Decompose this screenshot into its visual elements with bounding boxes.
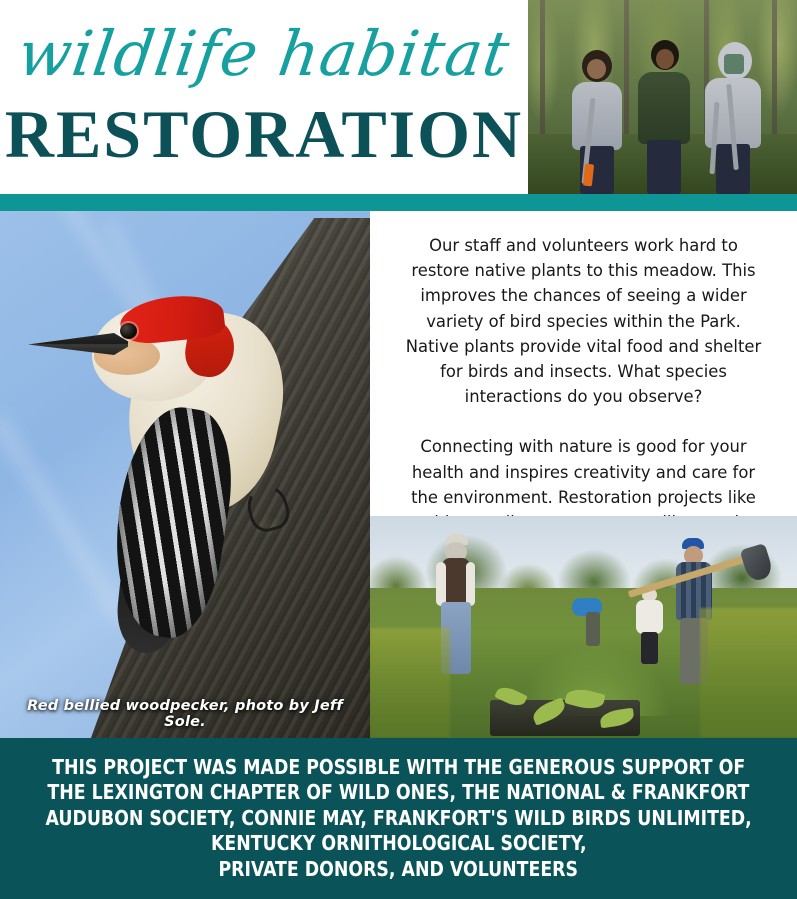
title-block: wildlife habitat RESTORATION — [0, 0, 528, 194]
footer-line: AUDUBON SOCIETY, CONNIE MAY, FRANKFORT'S… — [45, 806, 751, 832]
footer-line: THE LEXINGTON CHAPTER OF WILD ONES, THE … — [48, 780, 750, 806]
meadow-figure-sleeve — [466, 562, 475, 606]
volunteer-mask-icon — [724, 54, 744, 74]
tree-trunk-icon — [540, 0, 545, 150]
photo-caption: Red bellied woodpecker, photo by Jeff So… — [0, 698, 370, 730]
sponsor-footer: THIS PROJECT WAS MADE POSSIBLE WITH THE … — [0, 738, 797, 899]
woodpecker-eye — [120, 323, 137, 339]
volunteer-legs — [647, 140, 681, 194]
teal-divider-bar — [0, 194, 797, 211]
volunteer-figure — [700, 40, 768, 194]
meadow-figure-sleeve — [436, 562, 446, 606]
wildlife-habitat-restoration-poster: wildlife habitat RESTORATION — [0, 0, 797, 899]
meadow-tall-grass — [700, 608, 797, 738]
volunteer-face-icon — [656, 49, 674, 69]
woodpecker-photo: Red bellied woodpecker, photo by Jeff So… — [0, 211, 370, 738]
volunteer-face-icon — [587, 59, 606, 79]
meadow-figure-shirt — [636, 600, 663, 634]
meadow-figure-legs — [641, 632, 658, 664]
woodpecker-bird — [34, 289, 284, 619]
volunteer-fleece — [638, 72, 690, 144]
meadow-figure-bending — [570, 598, 608, 646]
volunteer-figure — [564, 44, 630, 194]
meadow-tall-grass — [370, 628, 450, 738]
volunteers-photo — [528, 0, 797, 194]
body-text-panel: Our staff and volunteers work hard to re… — [370, 211, 797, 516]
meadow-figure-legs — [586, 612, 600, 646]
footer-line: PRIVATE DONORS, AND VOLUNTEERS — [219, 857, 579, 883]
page-title: RESTORATION — [0, 98, 528, 170]
script-title: wildlife habitat — [0, 8, 528, 100]
body-paragraph-1: Our staff and volunteers work hard to re… — [398, 233, 769, 409]
footer-line: THIS PROJECT WAS MADE POSSIBLE WITH THE … — [52, 755, 745, 781]
meadow-photo — [370, 516, 797, 738]
volunteer-figure — [632, 38, 696, 194]
volunteer-jacket — [572, 82, 622, 150]
footer-line: KENTUCKY ORNITHOLOGICAL SOCIETY, — [211, 831, 587, 857]
woodpecker-wing-barring — [101, 400, 244, 644]
woodpecker-wing — [101, 400, 244, 644]
tree-trunk-icon — [772, 0, 777, 150]
woodpecker-beak — [28, 333, 128, 355]
poster-header: wildlife habitat RESTORATION — [0, 0, 797, 194]
meadow-figure-white-shirt — [632, 588, 666, 664]
